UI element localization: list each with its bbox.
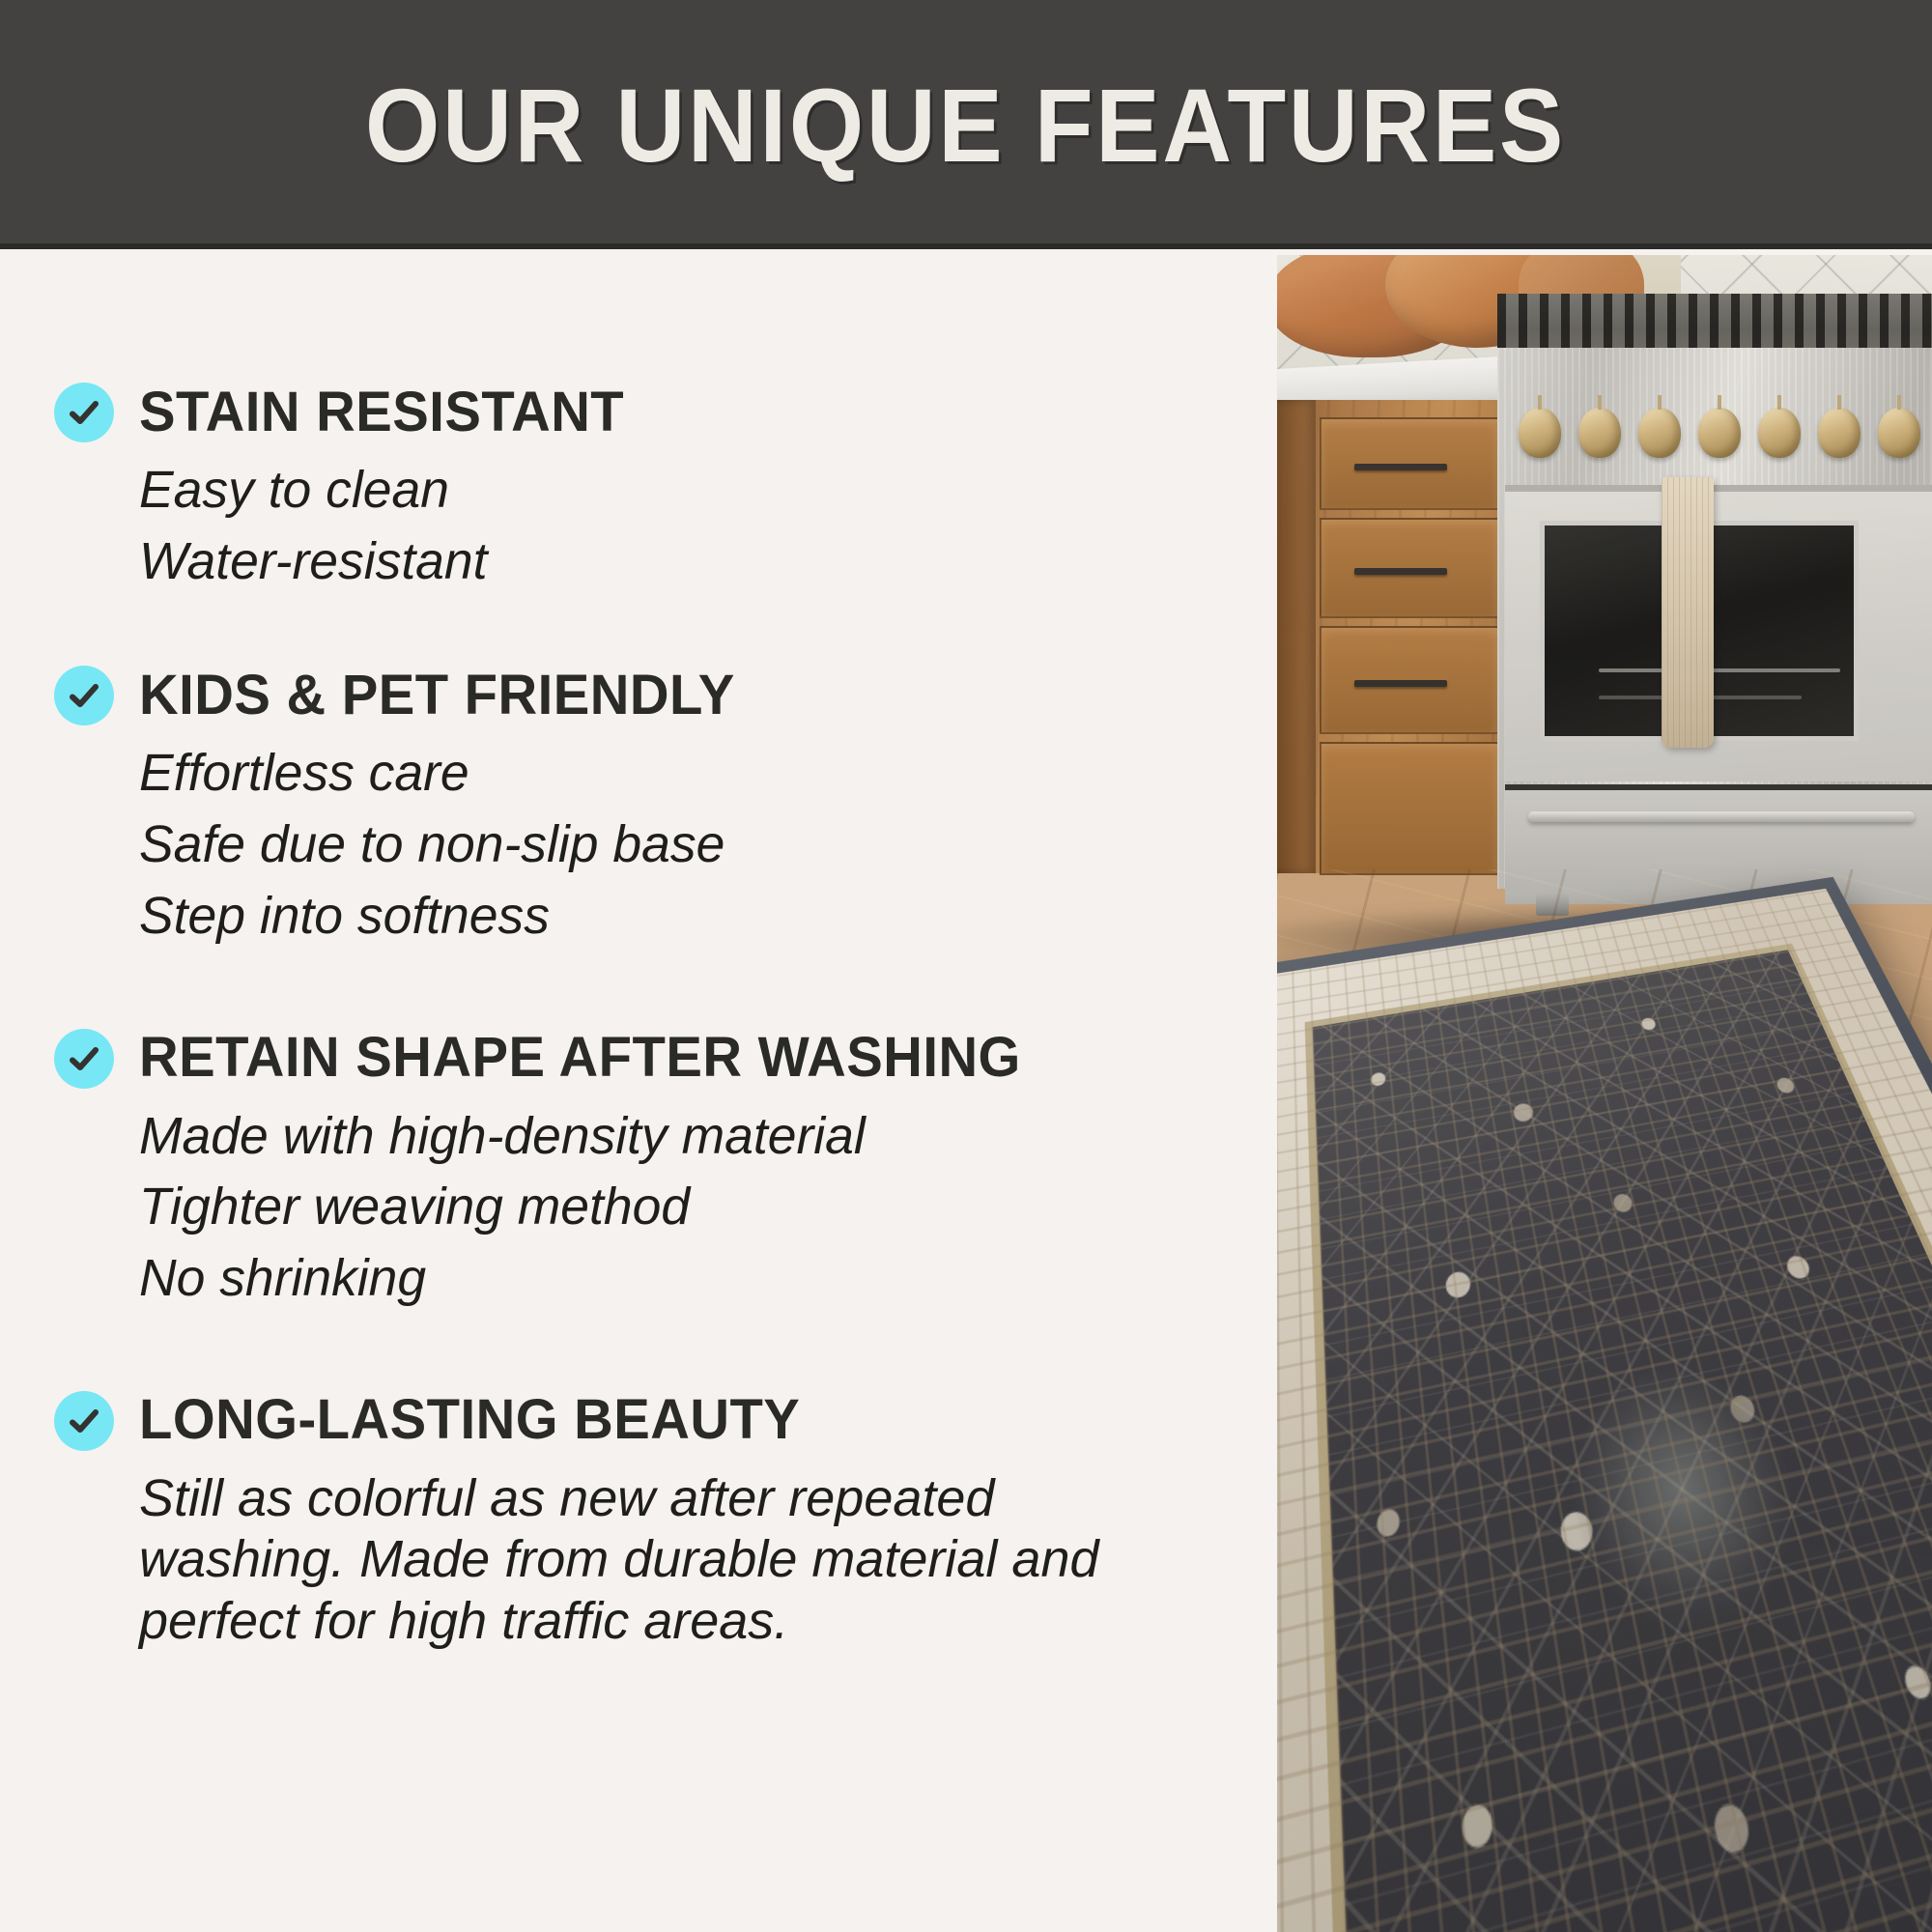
feature-line: Tighter weaving method <box>139 1177 1265 1238</box>
header-banner: OUR UNIQUE FEATURES <box>0 0 1932 249</box>
feature-title: STAIN RESISTANT <box>139 384 624 442</box>
feature-line: Made with high-density material <box>139 1106 1265 1168</box>
feature-header: STAIN RESISTANT <box>54 383 1277 442</box>
oven-knob-rail <box>1505 390 1932 475</box>
feature-body: Still as colorful as new after repeated … <box>54 1468 1277 1653</box>
feature-item-kids-pet-friendly: KIDS & PET FRIENDLY Effortless care Safe… <box>54 666 1277 947</box>
cabinet-drawer <box>1320 417 1499 510</box>
feature-line: Effortless care <box>139 743 1265 805</box>
oven-rack <box>1599 668 1840 672</box>
rug-outer-edge <box>1277 877 1932 1932</box>
feature-title: KIDS & PET FRIENDLY <box>139 667 735 725</box>
feature-body: Easy to clean Water-resistant <box>54 460 1277 592</box>
page-title: OUR UNIQUE FEATURES <box>366 73 1567 178</box>
brass-knob-icon <box>1698 408 1741 458</box>
brass-knob-icon <box>1578 408 1621 458</box>
drawer-handle-icon <box>1354 680 1447 687</box>
feature-line: Safe due to non-slip base <box>139 814 1265 876</box>
linen-towel <box>1662 477 1714 748</box>
features-list: STAIN RESISTANT Easy to clean Water-resi… <box>0 255 1277 1932</box>
feature-paragraph: Still as colorful as new after repeated … <box>139 1468 1207 1653</box>
photo-scene <box>1277 255 1932 1932</box>
feature-header: RETAIN SHAPE AFTER WASHING <box>54 1029 1277 1089</box>
persian-runner-rug <box>1277 877 1932 1932</box>
brass-knob-icon <box>1758 408 1801 458</box>
feature-item-stain-resistant: STAIN RESISTANT Easy to clean Water-resi… <box>54 383 1277 592</box>
feature-body: Effortless care Safe due to non-slip bas… <box>54 743 1277 947</box>
cabinet-drawer <box>1320 626 1499 734</box>
brass-knob-icon <box>1818 408 1861 458</box>
feature-line: Easy to clean <box>139 460 1265 522</box>
range-handle-icon <box>1528 811 1915 822</box>
cabinet-drawer <box>1320 518 1499 618</box>
feature-line: Step into softness <box>139 886 1265 948</box>
feature-line: Water-resistant <box>139 531 1265 593</box>
check-circle-icon <box>54 1391 114 1451</box>
product-lifestyle-photo <box>1277 255 1932 1932</box>
drawer-handle-icon <box>1354 464 1447 470</box>
brass-knob-icon <box>1519 408 1561 458</box>
cabinet-stile <box>1277 400 1316 873</box>
feature-title: LONG-LASTING BEAUTY <box>139 1391 800 1450</box>
feature-title: RETAIN SHAPE AFTER WASHING <box>139 1029 1021 1088</box>
check-circle-icon <box>54 666 114 725</box>
cabinet-drawer <box>1320 742 1499 875</box>
feature-body: Made with high-density material Tighter … <box>54 1106 1277 1310</box>
check-circle-icon <box>54 383 114 442</box>
brass-knob-icon <box>1878 408 1920 458</box>
brass-knob-icon <box>1638 408 1681 458</box>
feature-header: KIDS & PET FRIENDLY <box>54 666 1277 725</box>
check-circle-icon <box>54 1029 114 1089</box>
drawer-handle-icon <box>1354 568 1447 575</box>
feature-infographic: OUR UNIQUE FEATURES STAIN RESISTANT Easy… <box>0 0 1932 1932</box>
oven-door <box>1505 485 1932 781</box>
feature-item-long-lasting-beauty: LONG-LASTING BEAUTY Still as colorful as… <box>54 1391 1277 1653</box>
feature-item-retain-shape: RETAIN SHAPE AFTER WASHING Made with hig… <box>54 1029 1277 1310</box>
feature-line: No shrinking <box>139 1248 1265 1310</box>
feature-header: LONG-LASTING BEAUTY <box>54 1391 1277 1451</box>
